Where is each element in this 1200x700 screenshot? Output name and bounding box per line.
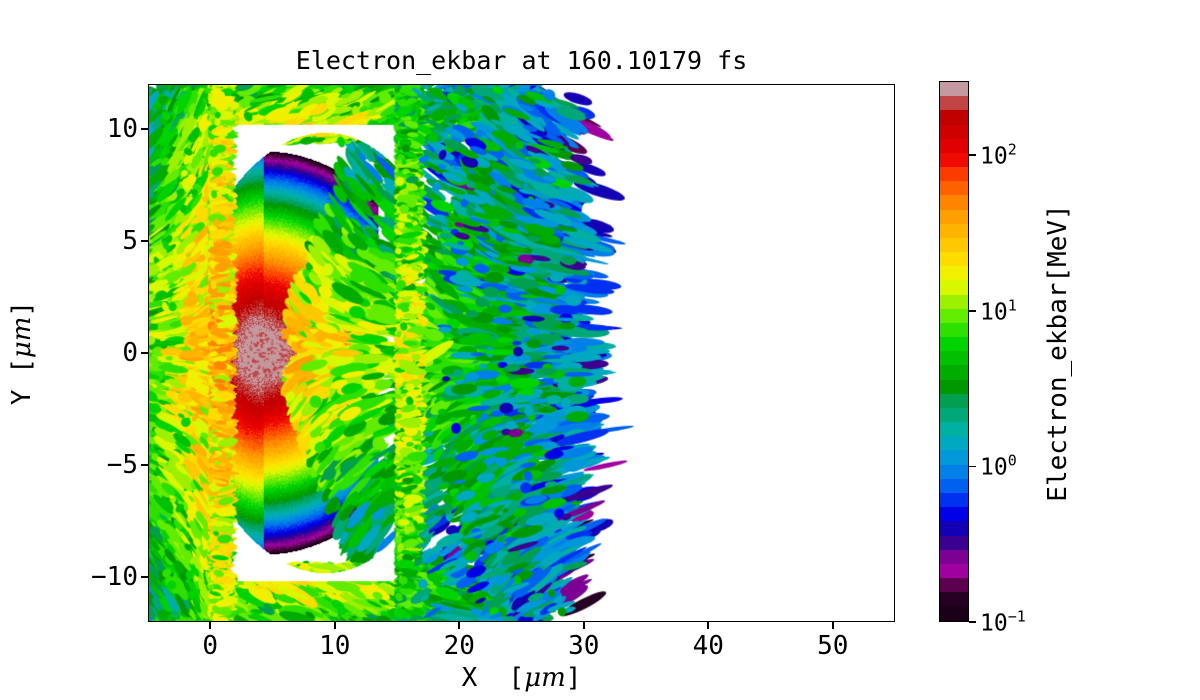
colorbar-segment	[940, 110, 968, 124]
colorbar-segment	[940, 479, 968, 493]
colorbar-segment	[940, 167, 968, 181]
colorbar-segment	[940, 195, 968, 209]
y-tick	[141, 352, 148, 354]
colorbar-segment	[940, 578, 968, 592]
y-tick	[141, 576, 148, 578]
y-tick	[141, 464, 148, 466]
colorbar-segment	[940, 365, 968, 379]
x-axis-title: X [μm]	[148, 663, 895, 693]
colorbar-segment	[940, 465, 968, 479]
colorbar-tick	[969, 154, 976, 156]
colorbar-tick	[969, 310, 976, 312]
colorbar-segment	[940, 507, 968, 521]
colorbar-segment	[940, 252, 968, 266]
x-tick-label: 20	[444, 631, 475, 661]
colorbar-tick	[969, 466, 976, 468]
x-tick	[707, 622, 709, 629]
colorbar-segment	[940, 394, 968, 408]
colorbar-segment	[940, 266, 968, 280]
x-tick-label: 30	[568, 631, 599, 661]
colorbar-segment	[940, 351, 968, 365]
colorbar[interactable]	[939, 81, 969, 622]
colorbar-segment	[940, 139, 968, 153]
y-axis-title: Y [μm]	[7, 301, 37, 405]
y-axis-symbol: Y	[7, 389, 37, 405]
colorbar-segment	[940, 96, 968, 110]
colorbar-segment	[940, 493, 968, 507]
y-tick-label: 10	[107, 114, 138, 144]
y-tick-label: 5	[122, 226, 138, 256]
colorbar-segment	[940, 238, 968, 252]
colorbar-segment	[940, 380, 968, 394]
colorbar-segment	[940, 224, 968, 238]
colorbar-segment	[940, 337, 968, 351]
colorbar-segment	[940, 536, 968, 550]
colorbar-tick-label: 101	[980, 296, 1017, 325]
y-tick-label: −10	[91, 562, 138, 592]
x-tick-label: 40	[693, 631, 724, 661]
colorbar-segment	[940, 323, 968, 337]
colorbar-segment	[940, 422, 968, 436]
x-tick	[458, 622, 460, 629]
colorbar-title: Electron_ekbar[MeV]	[1043, 204, 1073, 501]
y-tick	[141, 128, 148, 130]
colorbar-segment	[940, 592, 968, 606]
y-tick-label: −5	[107, 450, 138, 480]
x-tick	[334, 622, 336, 629]
colorbar-tick-label: 100	[980, 452, 1017, 481]
y-axis-unit: μm	[7, 317, 37, 359]
colorbar-segment	[940, 280, 968, 294]
x-tick	[583, 622, 585, 629]
colorbar-segment	[940, 550, 968, 564]
figure-root: Electron_ekbar at 160.10179 fs 010203040…	[0, 0, 1200, 700]
colorbar-segment	[940, 436, 968, 450]
x-tick-label: 10	[319, 631, 350, 661]
electron-ekbar-field	[149, 85, 894, 621]
colorbar-segment	[940, 408, 968, 422]
x-axis-unit: μm	[524, 663, 566, 693]
colorbar-segment	[940, 181, 968, 195]
colorbar-segment	[940, 521, 968, 535]
colorbar-tick-label: 102	[980, 141, 1017, 170]
colorbar-segment	[940, 82, 968, 96]
plot-axes[interactable]	[148, 84, 895, 622]
colorbar-segment	[940, 295, 968, 309]
colorbar-segment	[940, 606, 968, 620]
colorbar-tick-label: 10−1	[980, 608, 1026, 637]
colorbar-segment	[940, 210, 968, 224]
x-tick	[209, 622, 211, 629]
x-tick	[832, 622, 834, 629]
colorbar-segment	[940, 125, 968, 139]
colorbar-tick	[969, 621, 976, 623]
y-tick	[141, 240, 148, 242]
y-tick-label: 0	[122, 338, 138, 368]
x-tick-label: 0	[202, 631, 218, 661]
colorbar-segment	[940, 309, 968, 323]
colorbar-segment	[940, 153, 968, 167]
chart-title: Electron_ekbar at 160.10179 fs	[148, 46, 895, 75]
x-tick-label: 50	[817, 631, 848, 661]
colorbar-segment	[940, 450, 968, 464]
x-axis-symbol: X	[462, 663, 478, 693]
colorbar-segment	[940, 564, 968, 578]
